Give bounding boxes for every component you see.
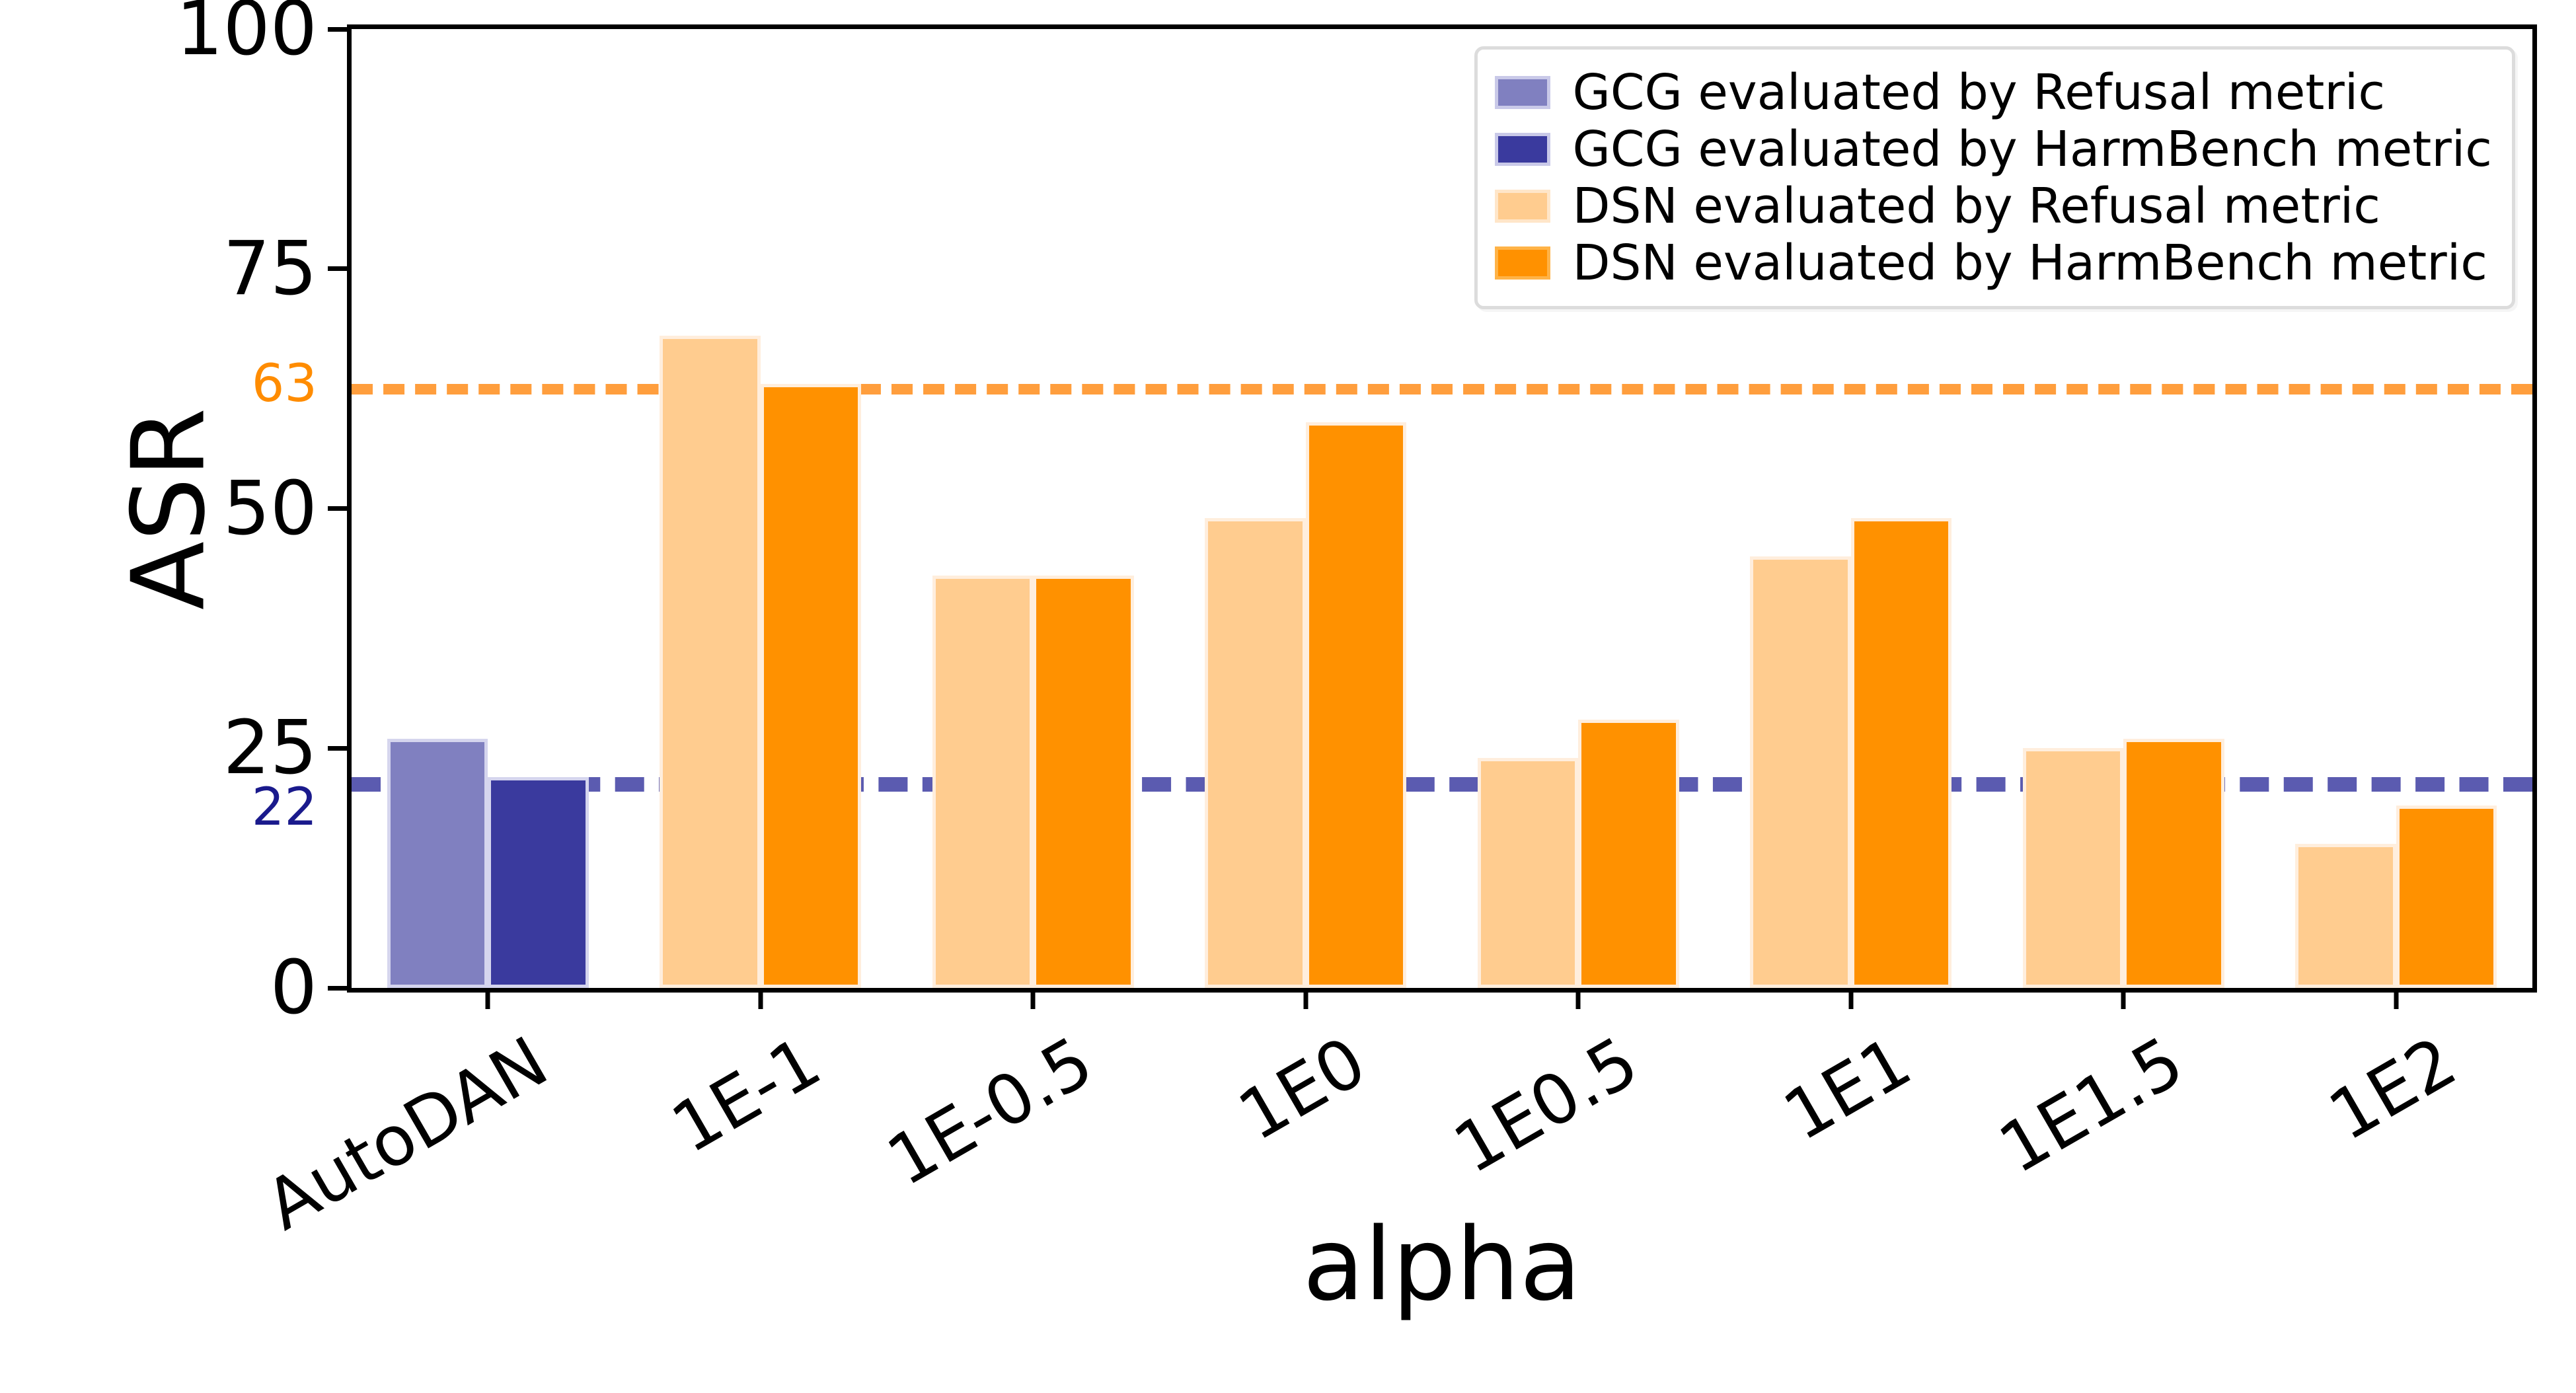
x-tick-label-AutoDAN: AutoDAN (255, 1026, 558, 1240)
legend-item-2[interactable]: DSN evaluated by Refusal metric (1495, 178, 2492, 235)
y-tick-50 (328, 506, 352, 511)
bar-1E0.5-s2 (1478, 758, 1579, 988)
legend-swatch-icon-1 (1495, 133, 1550, 166)
y-tick-label-50: 50 (223, 472, 317, 546)
x-tick-label-1E2: 1E2 (2318, 1026, 2466, 1151)
x-tick-1E1 (1848, 988, 1853, 1009)
x-axis-title: alpha (1303, 1206, 1581, 1323)
legend-label-0: GCG evaluated by Refusal metric (1573, 68, 2386, 117)
x-tick-label-1E-0.5: 1E-0.5 (877, 1026, 1103, 1196)
bar-1E2-s2 (2295, 844, 2396, 988)
annotation-22: 22 (252, 782, 317, 833)
bar-AutoDAN-s1 (488, 777, 589, 988)
y-axis-title: ASR (110, 407, 227, 609)
x-tick-label-1E0.5: 1E0.5 (1444, 1026, 1648, 1184)
y-tick-0 (328, 986, 352, 991)
bar-1E-1-s2 (660, 336, 761, 988)
legend-swatch-icon-0 (1495, 76, 1550, 109)
legend-label-3: DSN evaluated by HarmBench metric (1573, 239, 2487, 287)
bar-1E-1-s3 (761, 384, 862, 988)
legend-swatch-icon-3 (1495, 246, 1550, 280)
legend-item-0[interactable]: GCG evaluated by Refusal metric (1495, 64, 2492, 121)
bar-1E1.5-s2 (2023, 748, 2124, 988)
x-tick-1E-1 (758, 988, 763, 1009)
bar-AutoDAN-s0 (387, 739, 488, 988)
x-tick-1E-0.5 (1031, 988, 1036, 1009)
y-tick-25 (328, 746, 352, 751)
bar-1E-0.5-s3 (1033, 576, 1134, 988)
y-tick-75 (328, 266, 352, 271)
bar-1E2-s3 (2396, 806, 2497, 988)
x-tick-label-1E-1: 1E-1 (662, 1026, 831, 1164)
legend-swatch-icon-2 (1495, 190, 1550, 223)
x-tick-1E1.5 (2121, 988, 2126, 1009)
bar-1E1.5-s3 (2123, 739, 2224, 988)
x-tick-1E0 (1303, 988, 1308, 1009)
bar-1E0-s3 (1306, 422, 1407, 988)
bar-1E0-s2 (1205, 518, 1306, 988)
y-tick-label-75: 75 (223, 232, 317, 306)
x-tick-label-1E1.5: 1E1.5 (1989, 1026, 2193, 1184)
legend: GCG evaluated by Refusal metricGCG evalu… (1474, 46, 2515, 309)
figure-canvas: 02550751006322AutoDAN1E-11E-0.51E01E0.51… (0, 0, 2576, 1393)
bar-1E0.5-s3 (1578, 720, 1679, 988)
y-tick-label-0: 0 (270, 951, 317, 1025)
bar-1E1-s2 (1750, 556, 1851, 988)
y-tick-100 (328, 27, 352, 32)
x-tick-label-1E1: 1E1 (1773, 1026, 1921, 1151)
legend-item-3[interactable]: DSN evaluated by HarmBench metric (1495, 235, 2492, 291)
x-tick-1E2 (2394, 988, 2398, 1009)
legend-item-1[interactable]: GCG evaluated by HarmBench metric (1495, 121, 2492, 178)
x-tick-1E0.5 (1576, 988, 1581, 1009)
bar-1E-0.5-s2 (932, 576, 1034, 988)
plot-area: 02550751006322AutoDAN1E-11E-0.51E01E0.51… (347, 24, 2537, 993)
legend-label-2: DSN evaluated by Refusal metric (1573, 182, 2380, 231)
bar-1E1-s3 (1851, 518, 1952, 988)
annotation-63: 63 (252, 358, 317, 410)
x-tick-AutoDAN (486, 988, 490, 1009)
x-tick-label-1E0: 1E0 (1228, 1026, 1376, 1151)
y-tick-label-100: 100 (176, 0, 317, 66)
y-tick-label-25: 25 (223, 711, 317, 785)
legend-label-1: GCG evaluated by HarmBench metric (1573, 125, 2492, 174)
